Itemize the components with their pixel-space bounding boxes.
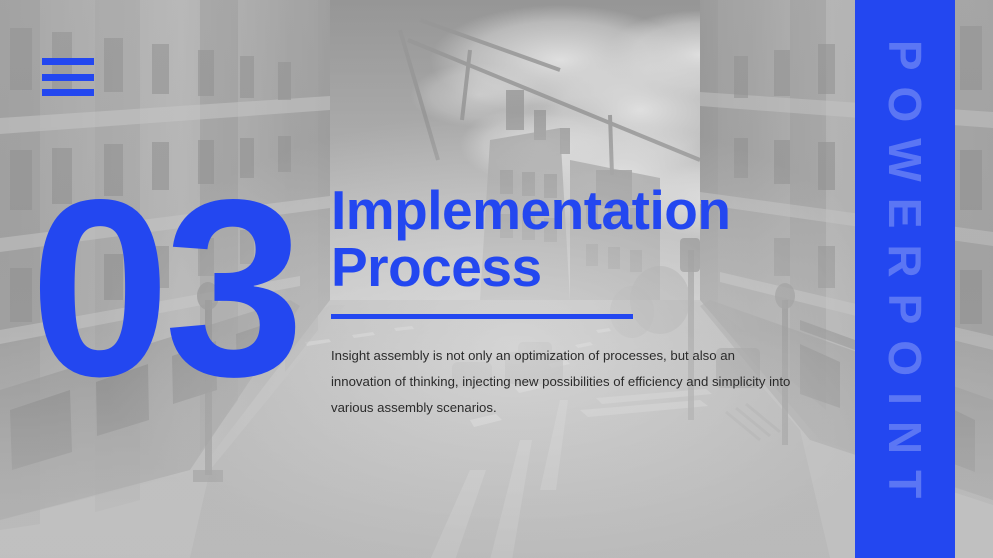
page-title: Implementation Process [331, 182, 801, 296]
slide-content: Implementation Process Insight assembly … [331, 182, 801, 421]
body-paragraph: Insight assembly is not only an optimiza… [331, 343, 797, 420]
section-number: 03 [30, 163, 298, 415]
hamburger-bar-bottom [42, 89, 94, 96]
hamburger-icon[interactable] [42, 58, 94, 96]
side-bar-label: POWERPOINT [878, 40, 932, 514]
presentation-slide: 03 Implementation Process Insight assemb… [0, 0, 993, 558]
title-underline-rule [331, 314, 633, 319]
side-accent-bar: POWERPOINT [855, 0, 955, 558]
hamburger-bar-top [42, 58, 94, 65]
hamburger-bar-middle [42, 74, 94, 81]
